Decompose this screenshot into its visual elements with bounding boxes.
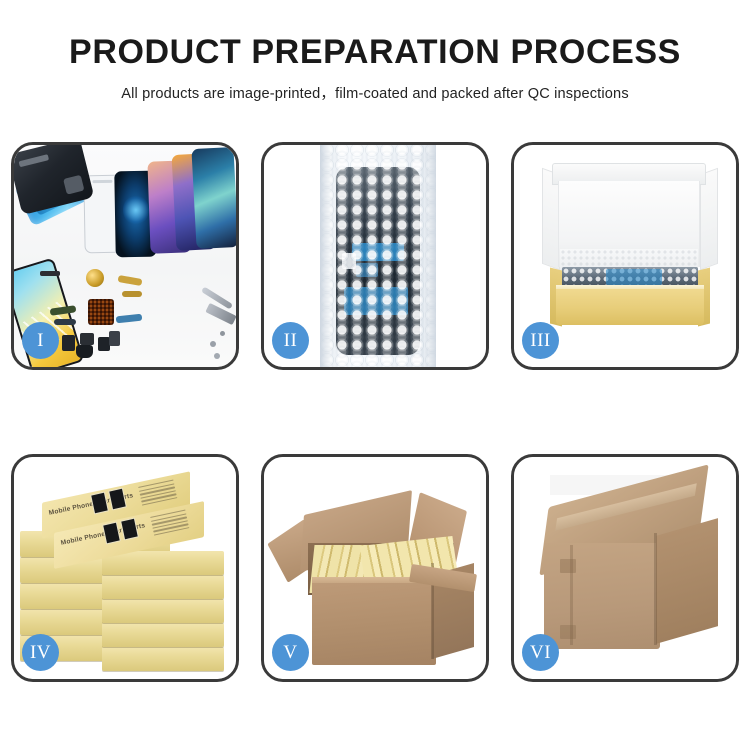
page-header: PRODUCT PREPARATION PROCESS All products… <box>0 0 750 130</box>
page-subtitle: All products are image-printed，film-coat… <box>0 82 750 103</box>
small-component-icon <box>80 333 94 345</box>
gold-coil-part-icon <box>86 269 104 287</box>
box-front-icon <box>556 289 704 325</box>
step-badge-3: III <box>522 322 559 359</box>
step-badge-1: I <box>22 322 59 359</box>
carton-notch-icon <box>560 559 576 573</box>
box-layer-icon <box>102 599 224 623</box>
step-badge-4: IV <box>22 634 59 671</box>
process-step-panel-3[interactable]: III <box>511 142 739 370</box>
copper-mesh-part-icon <box>88 299 114 325</box>
process-step-panel-6[interactable]: VI <box>511 454 739 682</box>
box-layer-icon <box>102 575 224 599</box>
page-title: PRODUCT PREPARATION PROCESS <box>0 34 750 71</box>
box-layer-icon <box>102 623 224 647</box>
blue-label-icon <box>606 269 662 285</box>
process-step-panel-2[interactable]: II <box>261 142 489 370</box>
screw-icon <box>210 341 216 347</box>
step-badge-5: V <box>272 634 309 671</box>
wrap-edge-icon <box>320 145 332 367</box>
process-step-panel-1[interactable]: I <box>11 142 239 370</box>
process-step-panel-4[interactable]: Mobile Phone Spare Parts Mobile Phone Sp… <box>11 454 239 682</box>
product-preparation-page: PRODUCT PREPARATION PROCESS All products… <box>0 0 750 750</box>
screw-icon <box>220 331 225 336</box>
screw-icon <box>214 353 220 359</box>
phone-back-housing-icon <box>14 145 94 215</box>
step-badge-2: II <box>272 322 309 359</box>
carton-notch-icon <box>560 625 576 639</box>
black-bar-part-icon <box>40 271 60 276</box>
phone-screen-teal-icon <box>191 147 236 249</box>
box-layer-icon <box>102 647 224 671</box>
flex-cable-gold-part-icon <box>122 291 142 297</box>
camera-module-icon <box>109 331 120 346</box>
process-step-panel-5[interactable]: V <box>261 454 489 682</box>
small-component-icon <box>62 335 75 351</box>
process-step-grid: I II <box>11 142 739 682</box>
carton-side-icon <box>656 518 718 644</box>
flex-cable-gold-part-icon <box>118 275 143 286</box>
wrap-edge-icon <box>424 145 436 367</box>
flex-cable-blue-part-icon <box>116 314 143 324</box>
carton-front-icon <box>312 583 436 665</box>
flex-cable-part-icon <box>54 319 76 325</box>
step-badge-6: VI <box>522 634 559 671</box>
speaker-part-icon <box>76 345 93 358</box>
carton-edge-icon <box>654 533 657 645</box>
bubble-pattern-icon <box>320 150 436 367</box>
